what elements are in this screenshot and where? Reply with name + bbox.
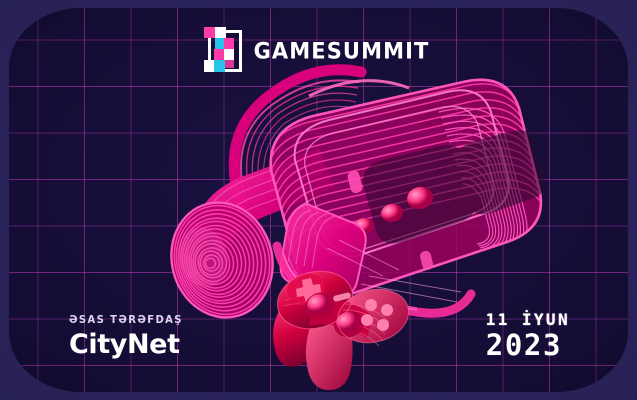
logo-pixel-4 [224, 38, 234, 49]
crt-screen: GAMESUMMIT ƏSAS TƏRƏFDAŞ CityNet 11 İYUN… [9, 8, 628, 392]
event-date-year: 2023 [486, 330, 570, 360]
logo-pixel-1 [204, 27, 215, 38]
event-date: 11 İYUN 2023 [486, 311, 570, 360]
logo-pixel-5 [224, 49, 234, 60]
gamesummit-logo-icon [208, 30, 242, 72]
brand-lockup: GAMESUMMIT [9, 30, 628, 72]
logo-pixel-9 [225, 60, 234, 68]
logo-pixel-2 [215, 27, 226, 38]
partner-label: ƏSAS TƏRƏFDAŞ [69, 315, 183, 327]
partner-block: ƏSAS TƏRƏFDAŞ CityNet [69, 315, 183, 358]
partner-name: CityNet [69, 331, 183, 358]
logo-pixel-8 [204, 60, 214, 72]
event-date-day: 11 İYUN [486, 311, 570, 329]
logo-pixel-7 [214, 60, 225, 72]
brand-name: GAMESUMMIT [254, 38, 430, 63]
gamepad-icon [271, 264, 414, 390]
event-poster: GAMESUMMIT ƏSAS TƏRƏFDAŞ CityNet 11 İYUN… [0, 0, 637, 400]
logo-pixel-6 [214, 49, 224, 60]
